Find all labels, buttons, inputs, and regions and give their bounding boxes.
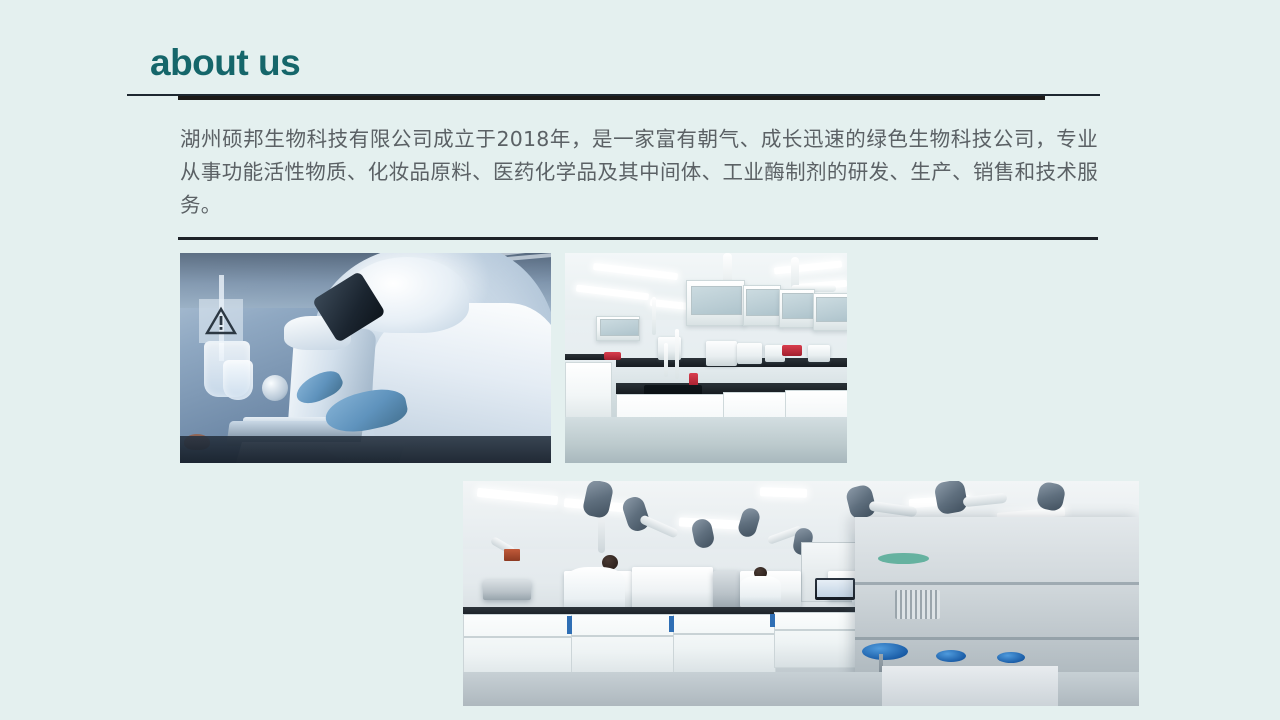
photo-lab-technicians [463, 481, 1139, 706]
hazard-warning-icon [199, 299, 243, 343]
cabinet-glass-door [782, 293, 814, 318]
analyser-seam [855, 582, 1139, 585]
service-column [652, 297, 656, 335]
gas-chromatograph [632, 567, 713, 612]
wall-cabinet [813, 293, 847, 331]
faucet-neck [664, 343, 668, 377]
computer-monitor [815, 578, 856, 601]
cabinet-seam [674, 633, 775, 635]
cabinet-seam [572, 635, 673, 637]
title-rule-thick [178, 96, 1045, 100]
cabinet-handle [567, 616, 572, 634]
slide-root: about us 湖州硕邦生物科技有限公司成立于2018年，是一家富有朝气、成长… [0, 0, 1280, 720]
cabinet-glass-door [746, 289, 780, 316]
analyser-seam [855, 637, 1139, 640]
instrument-rack [483, 580, 530, 600]
cabinet-glass-door [600, 319, 639, 335]
lab-stool-seat [936, 650, 966, 662]
page-title: about us [150, 43, 300, 84]
faucet-neck [675, 329, 679, 379]
lab-stool-seat [997, 652, 1025, 663]
photo-1-scene [180, 253, 551, 463]
analyser-logo [878, 553, 929, 564]
lab-stool-seat [862, 643, 908, 660]
foreground-bench [882, 666, 1058, 707]
technician-lab-coat [564, 567, 625, 612]
cabinet-glass-door [691, 286, 743, 315]
cabinet-handle [669, 616, 674, 632]
photo-3-scene [463, 481, 1139, 706]
photo-2-scene [565, 253, 847, 463]
lab-bench [180, 436, 551, 463]
lab-instrument [706, 341, 737, 366]
lab-instrument [737, 343, 762, 364]
wall-sign [504, 549, 520, 561]
wall-cabinet [743, 285, 782, 327]
base-cabinet [673, 614, 776, 677]
photo-empty-laboratory [565, 253, 847, 463]
wall-cabinet [779, 289, 815, 329]
photo-researcher-microscope [180, 253, 551, 463]
floor [565, 417, 847, 463]
ceiling-light [760, 487, 808, 498]
technician-lab-coat [740, 576, 781, 605]
red-equipment [782, 345, 802, 356]
lab-instrument [808, 345, 831, 362]
cabinet-glass-door [816, 297, 847, 321]
wall-cabinet [596, 316, 640, 341]
flask [223, 360, 253, 400]
monitor-screen [817, 580, 853, 597]
about-body-paragraph: 湖州硕邦生物科技有限公司成立于2018年，是一家富有朝气、成长迅速的绿色生物科技… [180, 123, 1098, 222]
base-cabinet [565, 362, 612, 423]
instrument-rack [713, 571, 740, 609]
analyser-vent [895, 590, 940, 619]
red-equipment [604, 352, 621, 360]
microscope-focus-knob [262, 375, 288, 401]
paragraph-rule [178, 237, 1098, 240]
cabinet-handle [770, 614, 775, 628]
cabinet-seam [464, 636, 572, 638]
wall-cabinet [686, 280, 744, 326]
